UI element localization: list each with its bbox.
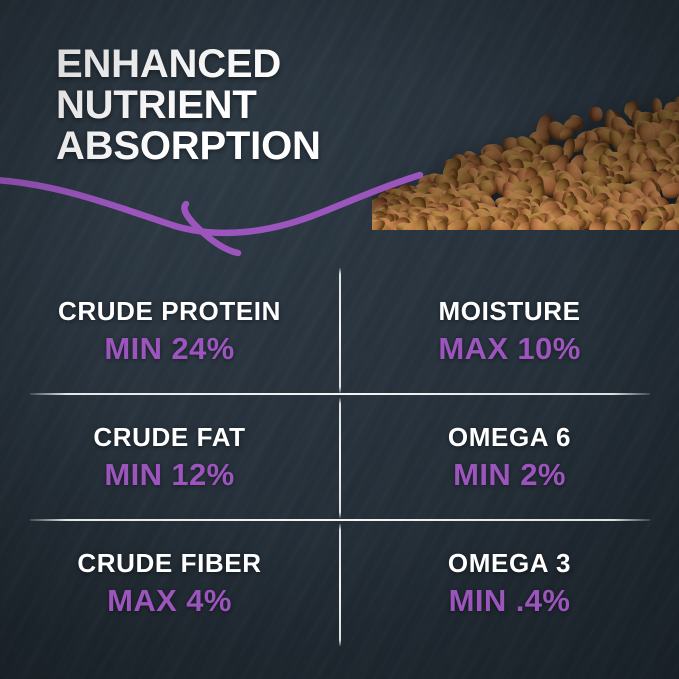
cell-value: MIN 12%	[0, 457, 339, 493]
cell-label: OMEGA 6	[340, 422, 679, 453]
cell-label: CRUDE FAT	[0, 422, 339, 453]
divider-horizontal-2	[30, 519, 650, 521]
cell-crude-fat: CRUDE FAT MIN 12%	[0, 422, 339, 493]
cell-value: MIN .4%	[340, 583, 679, 619]
cell-label: CRUDE PROTEIN	[0, 296, 339, 327]
cell-value: MAX 4%	[0, 583, 339, 619]
cell-crude-protein: CRUDE PROTEIN MIN 24%	[0, 296, 339, 367]
nutrition-infographic: ENHANCED NUTRIENT ABSORPTION CRUDE PROTE…	[0, 0, 679, 679]
cell-value: MAX 10%	[340, 331, 679, 367]
guaranteed-analysis-grid: CRUDE PROTEIN MIN 24% MOISTURE MAX 10% C…	[0, 262, 679, 662]
cell-label: CRUDE FIBER	[0, 548, 339, 579]
cell-crude-fiber: CRUDE FIBER MAX 4%	[0, 548, 339, 619]
cell-value: MIN 24%	[0, 331, 339, 367]
divider-horizontal-1	[30, 393, 650, 395]
cell-moisture: MOISTURE MAX 10%	[340, 296, 679, 367]
cell-value: MIN 2%	[340, 457, 679, 493]
cell-label: OMEGA 3	[340, 548, 679, 579]
cell-label: MOISTURE	[340, 296, 679, 327]
cell-omega-6: OMEGA 6 MIN 2%	[340, 422, 679, 493]
cell-omega-3: OMEGA 3 MIN .4%	[340, 548, 679, 619]
